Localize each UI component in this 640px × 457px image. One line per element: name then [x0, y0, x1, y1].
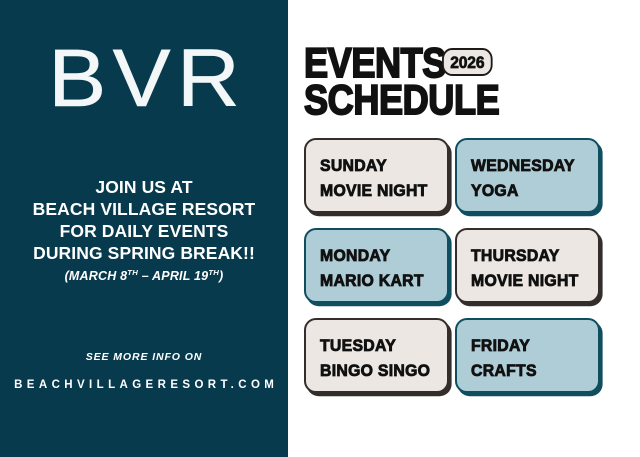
headline-block: JOIN US AT BEACH VILLAGE RESORT FOR DAIL… [0, 176, 288, 284]
footer-block: SEE MORE INFO ON BEACHVILLAGERESORT.COM [0, 350, 288, 392]
date-range: (MARCH 8TH – APRIL 19TH) [0, 268, 288, 284]
event-card-sunday[interactable]: SUNDAY MOVIE NIGHT [304, 138, 449, 213]
event-card-thursday[interactable]: THURSDAY MOVIE NIGHT [455, 228, 600, 303]
event-name: CRAFTS [471, 358, 589, 383]
event-day: THURSDAY [471, 243, 589, 268]
headline-line-2: BEACH VILLAGE RESORT [0, 198, 288, 220]
headline-line-4: DURING SPRING BREAK!! [0, 242, 288, 264]
headline-line-3: FOR DAILY EVENTS [0, 220, 288, 242]
date-range-open: (MARCH 8 [65, 269, 128, 283]
date-ordinal-start: TH [127, 268, 138, 277]
headline-line-1: JOIN US AT [0, 176, 288, 198]
event-card-tuesday[interactable]: TUESDAY BINGO SINGO [304, 318, 449, 393]
schedule-panel: EVENTS 2026 SCHEDULE SUNDAY MOVIE NIGHT … [288, 0, 640, 457]
event-card-grid: SUNDAY MOVIE NIGHT WEDNESDAY YOGA MONDAY… [304, 138, 600, 393]
event-name: MOVIE NIGHT [320, 178, 438, 203]
event-card-friday[interactable]: FRIDAY CRAFTS [455, 318, 600, 393]
date-range-close: ) [219, 269, 223, 283]
event-name: BINGO SINGO [320, 358, 438, 383]
brand-logo: BVR [0, 38, 297, 120]
event-card-monday[interactable]: MONDAY MARIO KART [304, 228, 449, 303]
brand-panel: BVR JOIN US AT BEACH VILLAGE RESORT FOR … [0, 0, 288, 457]
event-day: MONDAY [320, 243, 438, 268]
event-name: MARIO KART [320, 268, 438, 293]
event-name: YOGA [471, 178, 589, 203]
event-day: SUNDAY [320, 153, 438, 178]
year-badge: 2026 [442, 48, 493, 76]
event-day: TUESDAY [320, 333, 438, 358]
title-schedule: SCHEDULE [304, 81, 499, 118]
events-poster: BVR JOIN US AT BEACH VILLAGE RESORT FOR … [0, 0, 640, 457]
event-name: MOVIE NIGHT [471, 268, 589, 293]
see-more-label: SEE MORE INFO ON [0, 350, 288, 364]
event-card-wednesday[interactable]: WEDNESDAY YOGA [455, 138, 600, 213]
date-ordinal-end: TH [208, 268, 219, 277]
website-url[interactable]: BEACHVILLAGERESORT.COM [0, 378, 288, 392]
title-row-schedule: SCHEDULE [304, 81, 620, 118]
page-title: EVENTS 2026 SCHEDULE [304, 44, 620, 118]
event-day: FRIDAY [471, 333, 589, 358]
date-range-middle: – APRIL 19 [138, 269, 208, 283]
event-day: WEDNESDAY [471, 153, 589, 178]
